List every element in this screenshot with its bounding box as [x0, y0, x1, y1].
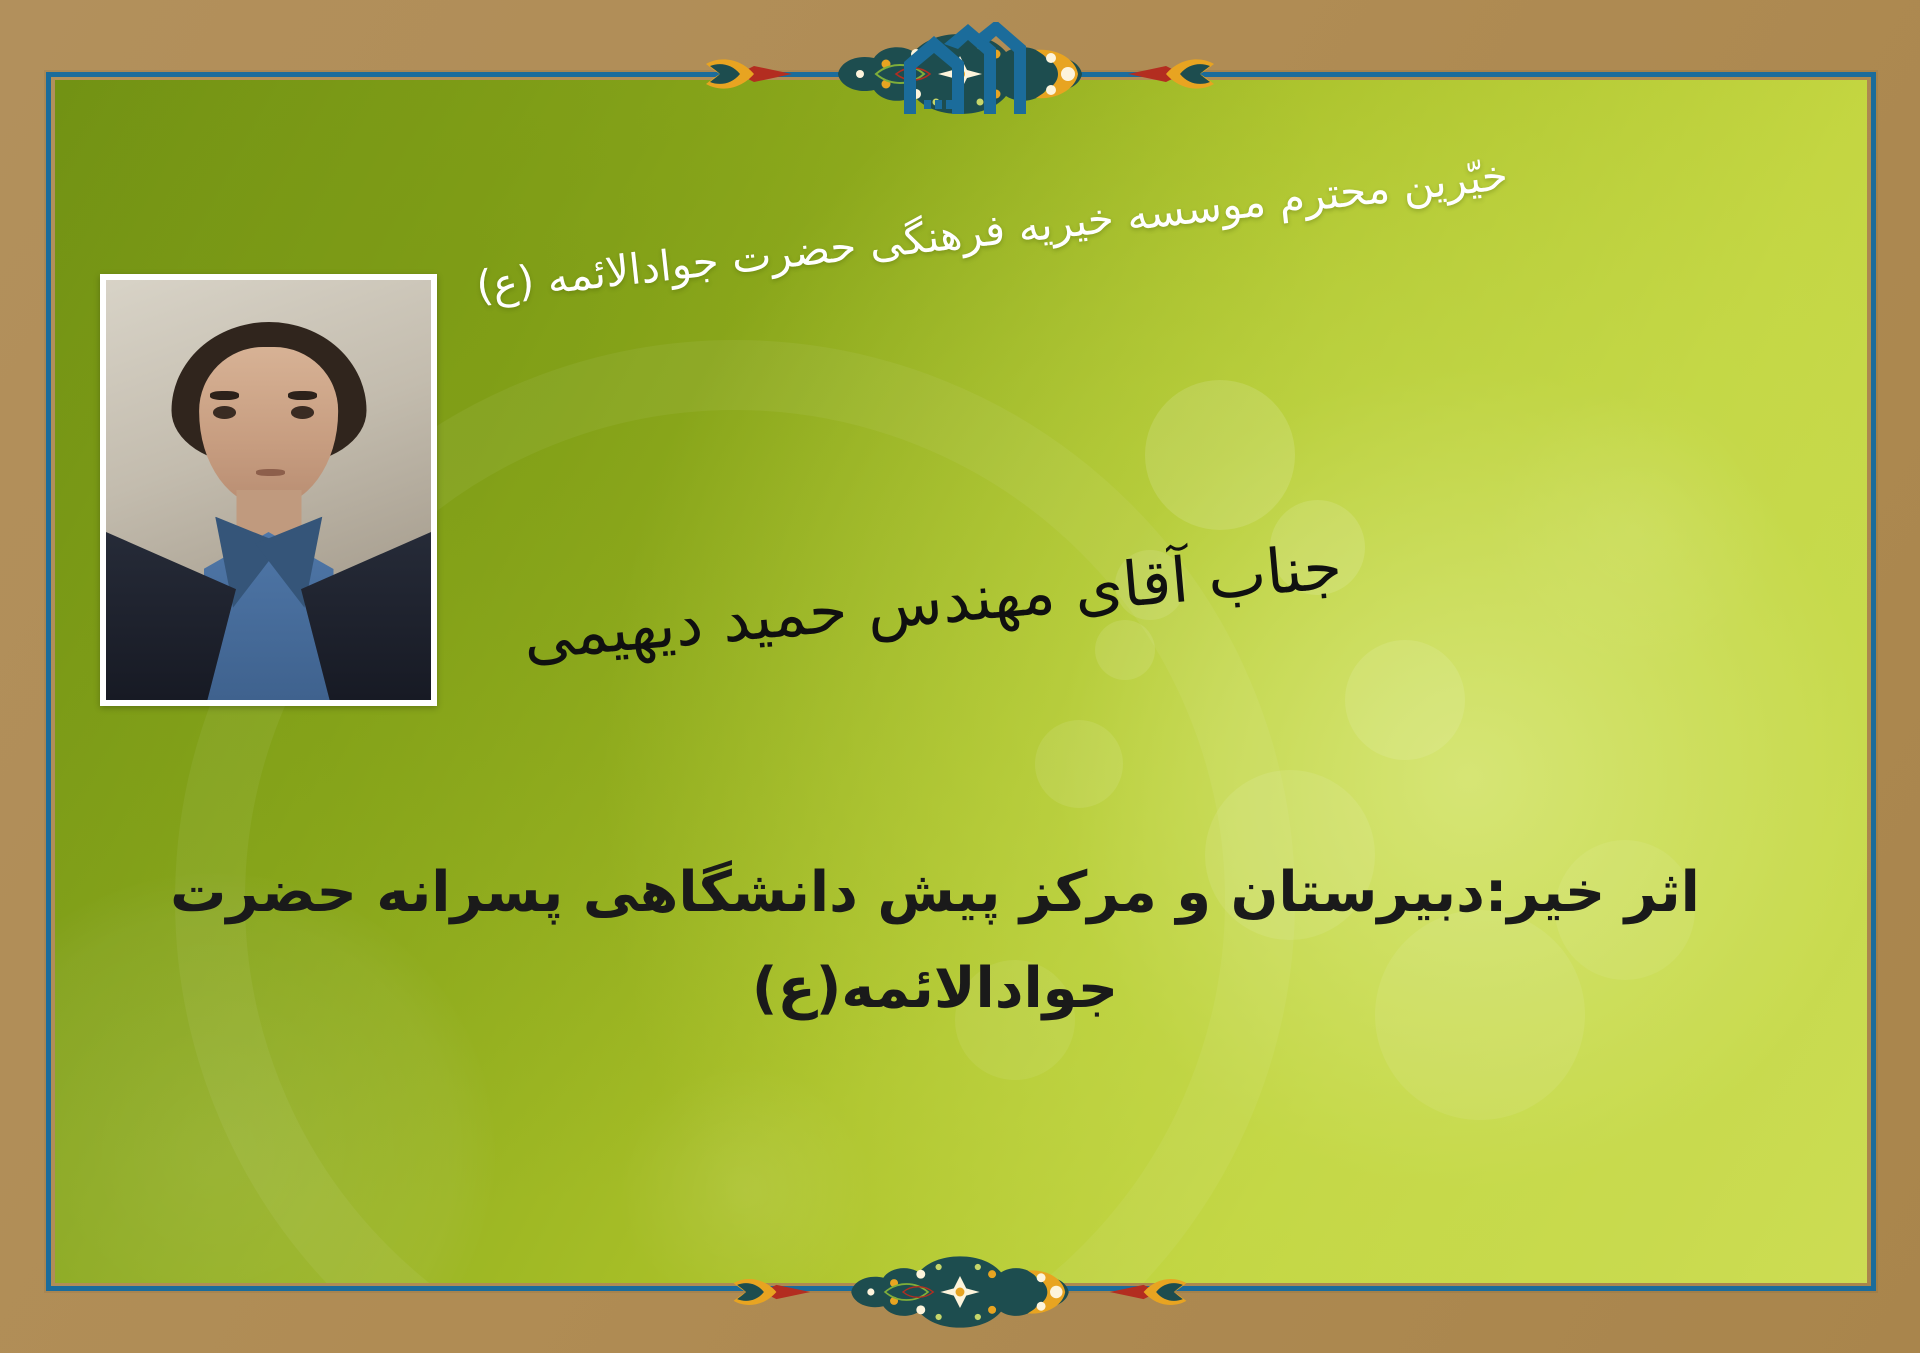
- honoree-photo: [106, 280, 431, 700]
- certificate-canvas: خیّرین محترم موسسه خیریه فرهنگی حضرت جوا…: [0, 0, 1920, 1353]
- institute-logo: [900, 22, 1030, 117]
- donated-work-block: اثر خیر:دبیرستان و مرکز پیش دانشگاهی پسر…: [60, 845, 1810, 1038]
- honoree-portrait-frame: [100, 274, 437, 706]
- three-arch-logo-icon: [900, 22, 1030, 117]
- donated-work-label: اثر خیر:: [1485, 860, 1700, 925]
- donated-work-value: دبیرستان و مرکز پیش دانشگاهی پسرانه حضرت…: [170, 860, 1485, 1021]
